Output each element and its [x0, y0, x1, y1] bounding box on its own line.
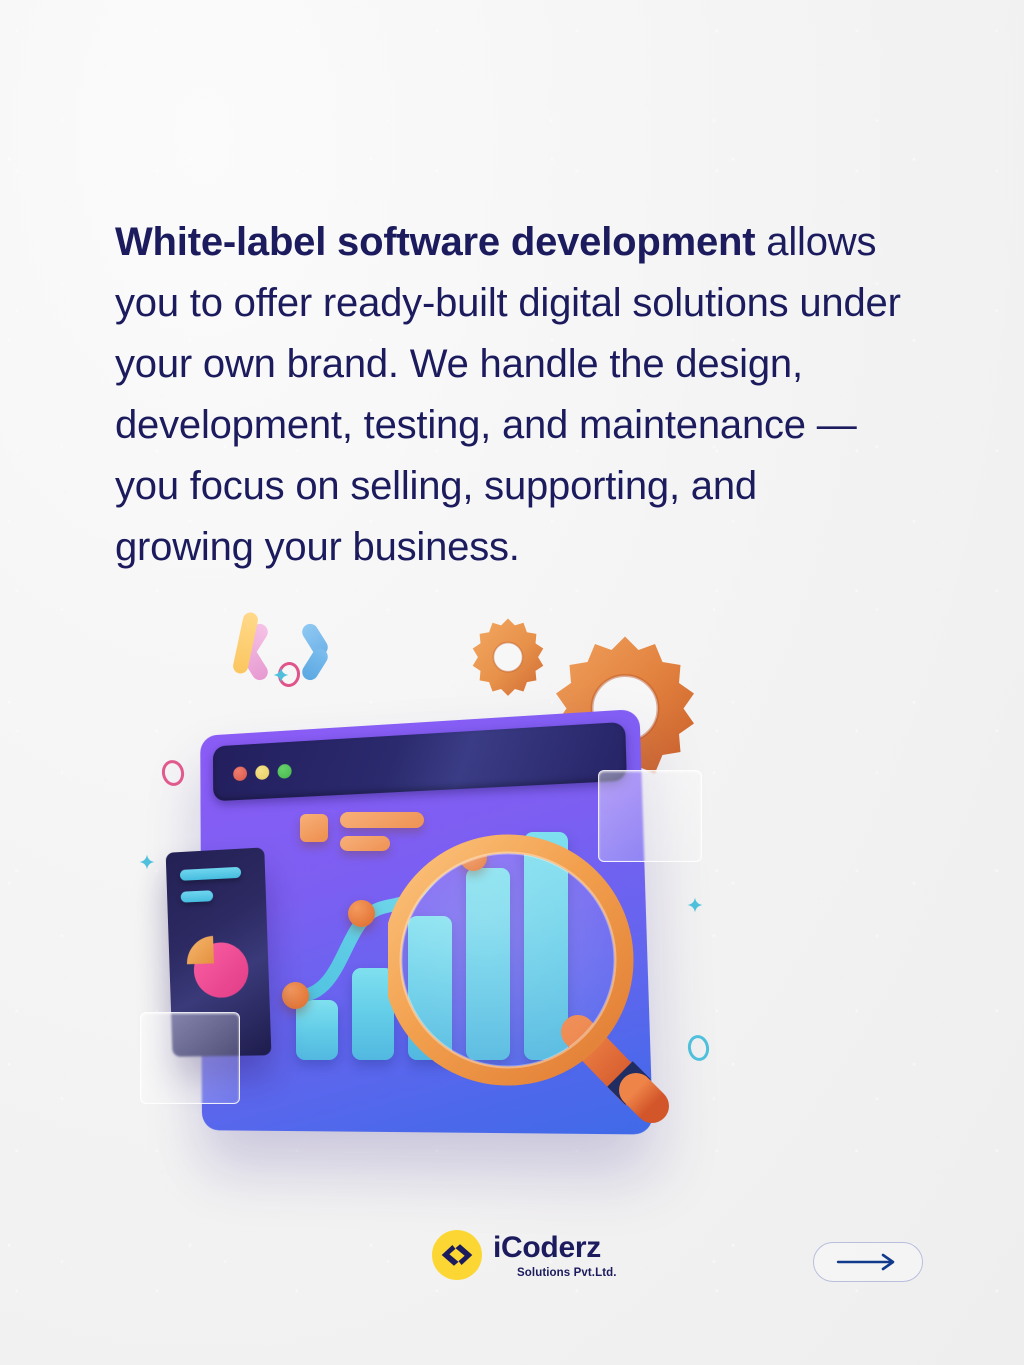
next-slide-button[interactable]: [813, 1242, 923, 1282]
window-titlebar: [213, 722, 627, 801]
brand-logo[interactable]: iCoderz Solutions Pvt.Ltd.: [432, 1230, 617, 1280]
traffic-light-yellow-icon: [255, 765, 269, 780]
footer: iCoderz Solutions Pvt.Ltd.: [0, 1222, 1024, 1312]
decoration-star-cyan: [272, 666, 290, 684]
arrow-right-icon: [835, 1253, 901, 1271]
brand-name: iCoderz: [493, 1233, 617, 1263]
gear-small-icon: [465, 615, 551, 701]
glass-panel-top: [598, 770, 702, 862]
code-brackets-icon: [238, 612, 368, 692]
headline-paragraph: White-label software development allows …: [115, 212, 905, 578]
traffic-light-red-icon: [233, 766, 247, 781]
glass-panel-bottom: [140, 1012, 240, 1104]
slide-canvas: White-label software development allows …: [0, 0, 1024, 1365]
sidebar-bar-short: [181, 890, 214, 902]
headline-body: allows you to offer ready-built digital …: [115, 220, 901, 569]
line-chart-point: [282, 982, 309, 1009]
headline-lead: White-label software development: [115, 220, 755, 264]
code-right-chevron-icon: [316, 620, 332, 672]
magnifier-icon: [388, 822, 670, 1142]
hero-illustration: [120, 600, 760, 1180]
brand-subtitle: Solutions Pvt.Ltd.: [517, 1268, 617, 1280]
line-chart-point: [348, 900, 375, 927]
pie-chart-icon: [174, 920, 262, 1009]
brand-text: iCoderz Solutions Pvt.Ltd.: [493, 1231, 617, 1280]
icoderz-logo-mark-icon: [432, 1230, 482, 1280]
decoration-star-cyan: [686, 896, 704, 914]
decoration-ring-cyan: [686, 1033, 711, 1062]
decoration-star-cyan: [138, 853, 156, 871]
logo-glyph-icon: [440, 1242, 474, 1268]
decoration-ring-pink: [160, 758, 187, 788]
sidebar-bar-long: [180, 867, 241, 881]
traffic-light-green-icon: [278, 764, 292, 779]
